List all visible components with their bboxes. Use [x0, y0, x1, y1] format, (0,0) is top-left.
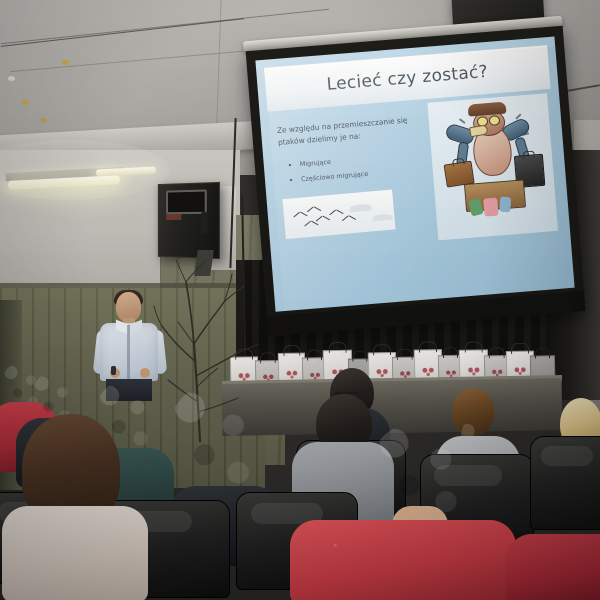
bag-handle	[352, 350, 367, 361]
bag-logo	[374, 367, 390, 378]
gift-bag-table	[222, 378, 563, 436]
presenter-shirt-placket	[127, 325, 130, 379]
bag-handle	[442, 347, 458, 358]
bag-handle	[419, 341, 437, 352]
packed-clothes	[499, 197, 511, 213]
chair-highlight	[541, 446, 593, 466]
winter-birds-illustration	[282, 189, 395, 239]
projection-screen[interactable]: Lecieć czy zostać? Ze względu na przemie…	[244, 6, 588, 343]
person-cream-sweater-body	[2, 506, 148, 600]
snow-mound	[349, 203, 372, 212]
pa-speaker	[158, 182, 220, 259]
person-blonde-bob-coral-body	[290, 520, 516, 600]
motion-line	[459, 118, 466, 123]
speaker-label	[166, 214, 181, 220]
speaker-driver	[201, 212, 208, 234]
bag-handle	[283, 345, 300, 356]
bag-handle	[464, 341, 482, 352]
branch-ornament	[40, 118, 47, 123]
suitcase-handle	[523, 150, 536, 158]
bag-handle	[511, 343, 529, 354]
bag-handle	[235, 348, 253, 359]
bag-handle	[306, 349, 322, 360]
bag-handle	[260, 352, 277, 363]
packed-clothes	[483, 198, 498, 217]
speaker-horn	[166, 189, 207, 214]
snow-mound	[372, 214, 392, 222]
chair	[530, 436, 600, 530]
slide-bullet-list: Migrujące Częściowo migrujące	[289, 145, 451, 187]
presenter-hand-right	[140, 368, 150, 378]
presentation-room-photo: Lecieć czy zostać? Ze względu na przemie…	[0, 0, 600, 600]
bag-handle	[373, 344, 391, 355]
presentation-remote	[111, 366, 116, 375]
person-auburn-curls-head	[166, 384, 262, 502]
screen-frame: Lecieć czy zostać? Ze względu na przemie…	[246, 26, 586, 337]
suitcase-handle	[452, 158, 465, 167]
slide-body-text: Ze względu na przemieszczanie się ptaków…	[277, 113, 428, 149]
branch-ornament	[22, 100, 29, 105]
bag-handle	[534, 347, 550, 358]
person-red-bottom-right-body	[506, 534, 600, 600]
bag-logo	[420, 366, 436, 378]
bag-handle	[489, 347, 506, 358]
bag-logo	[284, 369, 300, 380]
branch-ornament	[62, 60, 69, 65]
bag-logo	[465, 365, 482, 377]
bag-handle	[328, 342, 346, 353]
bag-handle	[397, 349, 414, 360]
branch-ornament	[8, 76, 15, 81]
cartoon-bird-illustration	[427, 93, 558, 240]
slide-surface: Lecieć czy zostać? Ze względu na przemie…	[255, 36, 574, 311]
